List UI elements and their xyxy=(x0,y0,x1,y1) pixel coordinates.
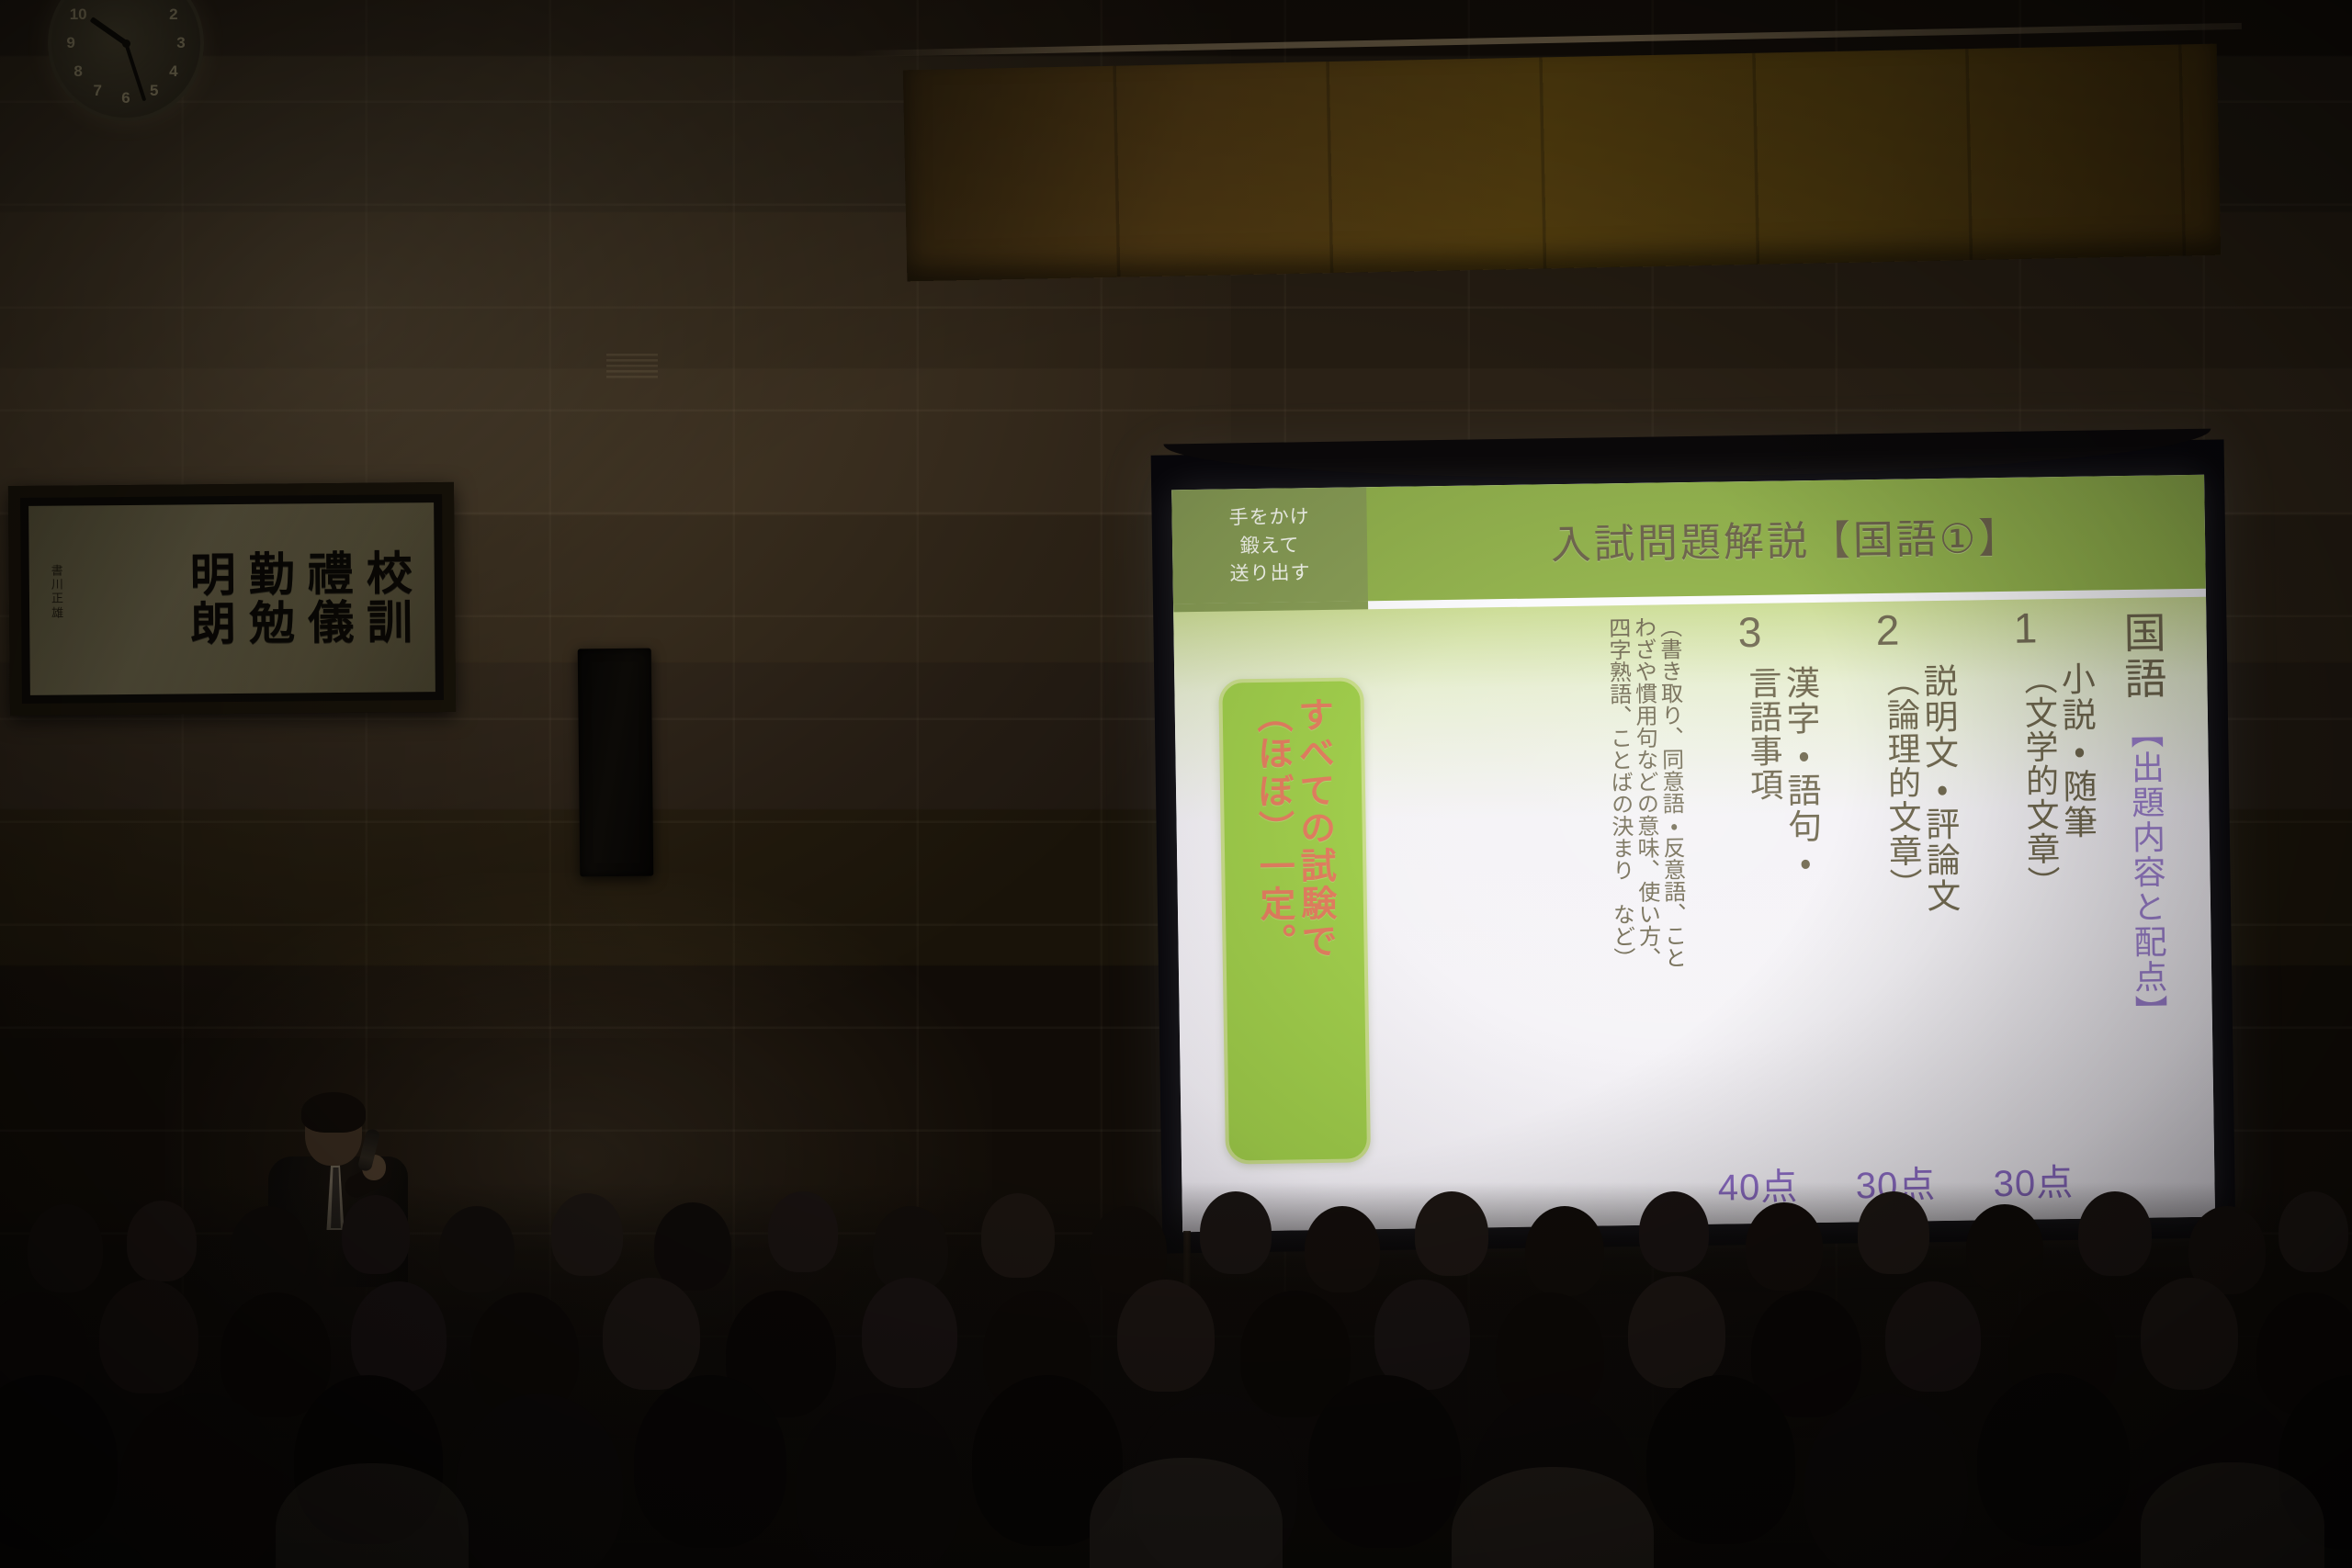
item-sub-text: （論理的文章） xyxy=(1881,663,1920,902)
slide-header: 手をかけ 鍛えて 送り出す 入試問題解説【国語①】 xyxy=(1171,475,2206,604)
wood-acoustic-panel xyxy=(903,44,2221,282)
callout-line-2: （ほぼ）一定。 xyxy=(1252,697,1294,962)
exam-item-2: 2 説明文・評論文 （論理的文章） 30点 xyxy=(1818,608,1965,1210)
calligraphy-signature: 書 川 正 雄 xyxy=(51,565,64,620)
subject-name: 国語 xyxy=(2111,610,2173,703)
item-text-group: 漢字・語句・ 言語事項 xyxy=(1681,665,1826,1153)
tagline-line: 鍛えて xyxy=(1239,532,1299,560)
item-main-text: 説明文・評論文 xyxy=(1918,663,1959,915)
item-main-text: 小説・随筆 xyxy=(2056,661,2096,841)
item-text-group: 小説・随筆 （文学的文章） xyxy=(1957,660,2102,1148)
tagline-line: 送り出す xyxy=(1229,559,1310,589)
slide-title-area: 入試問題解説【国語①】 xyxy=(1366,475,2206,602)
clock-numeral: 8 xyxy=(73,62,82,81)
calligraphy-char: 禮 xyxy=(308,550,354,597)
auditorium-scene: 12 1 2 3 4 5 6 7 8 9 10 11 校 訓 禮 儀 勤 勉 xyxy=(0,0,2352,1568)
item-score: 40点 xyxy=(1717,1156,1798,1211)
screen-support-pole xyxy=(1183,1231,1191,1301)
annotation-column: （書き取り、同意語・反意語、こと わざや慣用句などの意味、使い方、 四字熟語、こ… xyxy=(1572,612,1690,1213)
clock-numeral: 9 xyxy=(66,34,74,52)
calligraphy-char: 明 xyxy=(190,551,236,598)
callout-line-1: すべての試験で xyxy=(1294,696,1335,961)
calligraphy-column: 禮 儀 xyxy=(308,550,355,646)
exam-item-3: 3 漢字・語句・ 言語事項 40点 xyxy=(1680,610,1827,1212)
signature-char: 正 xyxy=(51,593,63,606)
signature-char: 雄 xyxy=(51,607,63,620)
slide-title: 入試問題解説【国語①】 xyxy=(1550,505,2021,571)
calligraphy-column: 勤 勉 xyxy=(249,550,296,646)
clock-numeral: 5 xyxy=(150,82,158,100)
callout-box: すべての試験で （ほぼ）一定。 xyxy=(1218,677,1371,1164)
clock-center-pin xyxy=(122,39,130,48)
school-motto-plaque: 校 訓 禮 儀 勤 勉 明 朗 書 川 正 雄 xyxy=(8,482,456,716)
presenter-hair xyxy=(301,1092,366,1133)
subject-column: 国語 【出題内容と配点】 xyxy=(2094,604,2199,1205)
projection-screen-frame: 手をかけ 鍛えて 送り出す 入試問題解説【国語①】 すべての試験で （ほぼ）一定… xyxy=(1151,439,2236,1253)
item-number: 3 xyxy=(1737,611,1761,653)
clock-numeral: 1 xyxy=(150,0,158,5)
clock-numeral: 4 xyxy=(169,62,177,81)
clock-numeral: 7 xyxy=(93,82,101,100)
item-score: 30点 xyxy=(1993,1153,2074,1207)
presenter xyxy=(266,1098,432,1281)
calligraphy-paper: 校 訓 禮 儀 勤 勉 明 朗 書 川 正 雄 xyxy=(28,502,435,695)
calligraphy-char: 訓 xyxy=(367,598,413,645)
signature-char: 書 xyxy=(51,565,63,578)
wall-vent-grille xyxy=(606,354,658,381)
clock-numeral: 10 xyxy=(70,6,87,24)
calligraphy-column: 明 朗 xyxy=(190,551,237,647)
item-number: 1 xyxy=(2013,606,2037,649)
slide-tagline: 手をかけ 鍛えて 送り出す xyxy=(1171,487,1368,604)
clock-numeral: 11 xyxy=(89,0,106,5)
tagline-line: 手をかけ xyxy=(1228,503,1309,533)
exam-breakdown-table: （書き取り、同意語・反意語、こと わざや慣用句などの意味、使い方、 四字熟語、こ… xyxy=(1449,604,2199,1215)
item-number: 2 xyxy=(1875,609,1899,651)
calligraphy-char: 儀 xyxy=(308,599,354,646)
exam-item-1: 1 小説・随筆 （文学的文章） 30点 xyxy=(1956,606,2103,1208)
projection-screen-surface: 手をかけ 鍛えて 送り出す 入試問題解説【国語①】 すべての試験で （ほぼ）一定… xyxy=(1171,475,2215,1233)
calligraphy-char: 校 xyxy=(367,549,413,596)
calligraphy-char: 勉 xyxy=(249,599,295,646)
wall-speaker xyxy=(578,649,654,877)
calligraphy-title-column: 校 訓 xyxy=(367,549,413,645)
calligraphy-char: 朗 xyxy=(190,600,236,647)
item-main-text: 漢字・語句・ xyxy=(1781,665,1820,881)
clock-numeral: 3 xyxy=(176,34,185,52)
item-text-group: 説明文・評論文 （論理的文章） xyxy=(1819,663,1964,1151)
item-sub-text: 言語事項 xyxy=(1743,666,1781,803)
slide-body: すべての試験で （ほぼ）一定。 （書き取り、同意語・反意語、こと わざや慣用句な… xyxy=(1173,597,2215,1233)
clock-numeral: 2 xyxy=(169,6,177,24)
item-score: 30点 xyxy=(1855,1155,1936,1209)
calligraphy-char: 勤 xyxy=(249,550,295,597)
subject-bracket-label: 【出題内容と配点】 xyxy=(2120,715,2172,1030)
clock-numeral: 6 xyxy=(121,89,130,107)
item-sub-text: （文学的文章） xyxy=(2018,661,2058,900)
signature-char: 川 xyxy=(51,580,63,592)
